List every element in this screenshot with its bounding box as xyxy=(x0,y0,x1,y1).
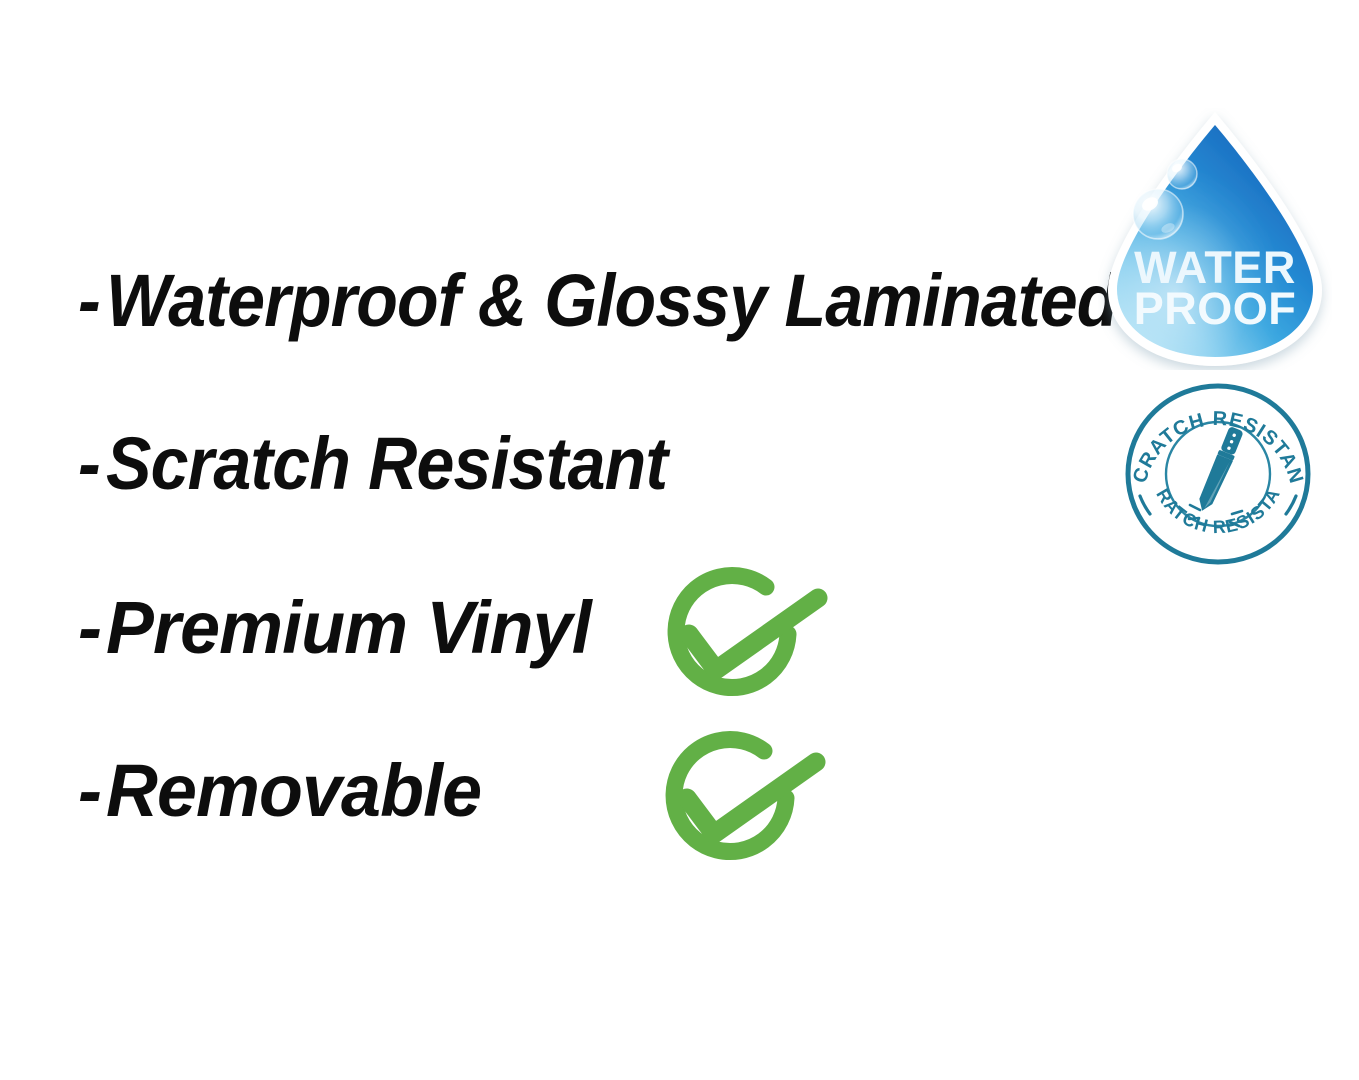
check-circle-removable xyxy=(638,722,830,882)
bullet-dash: - xyxy=(78,748,101,833)
bullet-dash: - xyxy=(78,421,100,506)
knife-icon xyxy=(1196,426,1245,515)
water-bubble-small xyxy=(1167,159,1197,189)
check-circle-premium-vinyl xyxy=(640,558,832,718)
waterproof-line2: PROOF xyxy=(1134,283,1297,334)
check-tick xyxy=(687,762,816,834)
check-tick xyxy=(689,598,818,670)
bullet-dash: - xyxy=(78,258,100,343)
feature-label: Removable xyxy=(106,748,481,833)
feature-callout-image: - Waterproof & Glossy Laminated - Scratc… xyxy=(0,0,1359,1080)
bullet-dash: - xyxy=(78,585,101,670)
feature-item-premium-vinyl: - Premium Vinyl xyxy=(78,585,606,670)
feature-label: Premium Vinyl xyxy=(106,585,591,670)
feature-item-removable: - Removable xyxy=(78,748,493,833)
feature-item-waterproof-glossy-laminated: - Waterproof & Glossy Laminated xyxy=(78,258,1205,343)
feature-label: Waterproof & Glossy Laminated xyxy=(106,258,1118,343)
feature-item-scratch-resistant: - Scratch Resistant xyxy=(78,421,716,506)
scratch-resistant-stamp: SCRATCH RESISTANT SCRATCH RESISTANT xyxy=(1120,378,1316,570)
feature-label: Scratch Resistant xyxy=(106,421,667,506)
water-bubble-large xyxy=(1133,189,1183,239)
waterproof-droplet-badge: WATER PROOF xyxy=(1098,108,1332,370)
feature-list: - Waterproof & Glossy Laminated - Scratc… xyxy=(0,0,1100,1080)
